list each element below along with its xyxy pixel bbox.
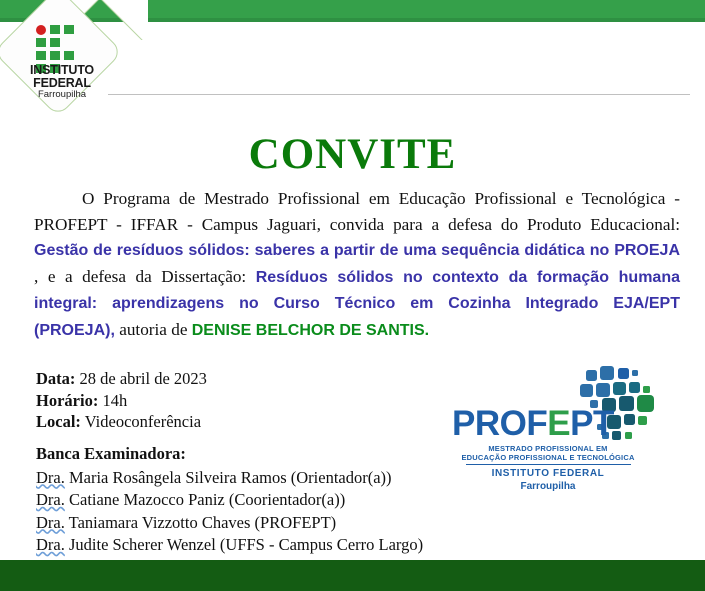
examination-board: Banca Examinadora: Dra. Maria Rosângela … bbox=[36, 443, 423, 557]
profept-footer: INSTITUTO FEDERAL Farroupilha bbox=[448, 467, 648, 493]
if-wordmark-line1: INSTITUTO bbox=[6, 64, 118, 77]
event-details: Data: 28 de abril de 2023 Horário: 14h L… bbox=[36, 368, 207, 433]
detail-value-data: 28 de abril de 2023 bbox=[80, 369, 207, 388]
detail-row-horario: Horário: 14h bbox=[36, 390, 207, 412]
page-title: CONVITE bbox=[0, 130, 705, 179]
logo-inner: INSTITUTO FEDERAL Farroupilha bbox=[6, 2, 118, 114]
if-cell bbox=[50, 38, 60, 47]
board-member-row: Dra. Catiane Mazocco Paniz (Coorientador… bbox=[36, 489, 423, 512]
board-member-name: Catiane Mazocco Paniz (Coorientador(a)) bbox=[65, 490, 345, 509]
if-cell bbox=[50, 51, 60, 60]
board-member-prefix: Dra. bbox=[36, 535, 65, 554]
if-cell bbox=[36, 38, 46, 47]
board-member-row: Dra. Maria Rosângela Silveira Ramos (Ori… bbox=[36, 467, 423, 490]
detail-row-local: Local: Videoconferência bbox=[36, 411, 207, 433]
board-member-row: Dra. Taniamara Vizzotto Chaves (PROFEPT) bbox=[36, 512, 423, 535]
if-wordmark-line2: FEDERAL bbox=[6, 77, 118, 90]
examination-board-title: Banca Examinadora: bbox=[36, 443, 423, 466]
paragraph-segment-3: autoria de bbox=[115, 320, 192, 339]
if-cell bbox=[64, 25, 74, 34]
paragraph-segment-1: O Programa de Mestrado Profissional em E… bbox=[34, 189, 680, 234]
if-pixel-grid-icon bbox=[36, 25, 78, 65]
invitation-page: INSTITUTO FEDERAL Farroupilha CONVITE O … bbox=[0, 0, 705, 591]
board-member-name: Taniamara Vizzotto Chaves (PROFEPT) bbox=[65, 513, 336, 532]
profept-divider bbox=[466, 464, 631, 465]
detail-label-local: Local: bbox=[36, 412, 81, 431]
profept-subtitle-line2: EDUCAÇÃO PROFISSIONAL E TECNOLÓGICA bbox=[448, 453, 648, 462]
if-red-dot-icon bbox=[36, 25, 46, 35]
detail-label-horario: Horário: bbox=[36, 391, 98, 410]
detail-value-horario: 14h bbox=[102, 391, 127, 410]
header-divider-rule bbox=[108, 94, 690, 95]
instituto-federal-logo: INSTITUTO FEDERAL Farroupilha bbox=[6, 2, 118, 114]
detail-row-data: Data: 28 de abril de 2023 bbox=[36, 368, 207, 390]
paragraph-segment-2: , e a defesa da Dissertação: bbox=[34, 267, 256, 286]
detail-value-local: Videoconferência bbox=[85, 412, 201, 431]
if-cell bbox=[36, 51, 46, 60]
board-member-prefix: Dra. bbox=[36, 468, 65, 487]
board-member-prefix: Dra. bbox=[36, 513, 65, 532]
if-wordmark: INSTITUTO FEDERAL Farroupilha bbox=[6, 64, 118, 100]
detail-label-data: Data: bbox=[36, 369, 75, 388]
profept-logo: PROFEPT MESTRADO PROFISSIONAL EM EDUCAÇÃ… bbox=[448, 364, 683, 489]
profept-word-part1: PROF bbox=[452, 404, 547, 443]
profept-subtitle-line1: MESTRADO PROFISSIONAL EM bbox=[448, 444, 648, 453]
if-cell bbox=[64, 51, 74, 60]
profept-footer-line2: Farroupilha bbox=[448, 480, 648, 493]
invitation-paragraph: O Programa de Mestrado Profissional em E… bbox=[34, 186, 680, 343]
board-member-name: Maria Rosângela Silveira Ramos (Orientad… bbox=[65, 468, 392, 487]
board-member-name: Judite Scherer Wenzel (UFFS - Campus Cer… bbox=[65, 535, 423, 554]
bottom-green-bar bbox=[0, 560, 705, 591]
profept-footer-line1: INSTITUTO FEDERAL bbox=[448, 467, 648, 480]
product-title: Gestão de resíduos sólidos: saberes a pa… bbox=[34, 242, 680, 259]
profept-wordmark: PROFEPT bbox=[452, 406, 614, 441]
if-cell bbox=[50, 25, 60, 34]
profept-word-part3: PT bbox=[570, 404, 614, 443]
board-member-row: Dra. Judite Scherer Wenzel (UFFS - Campu… bbox=[36, 534, 423, 557]
author-name: DENISE BELCHOR DE SANTIS. bbox=[192, 322, 429, 339]
profept-subtitle: MESTRADO PROFISSIONAL EM EDUCAÇÃO PROFIS… bbox=[448, 444, 648, 463]
if-wordmark-line3: Farroupilha bbox=[6, 90, 118, 100]
profept-word-part2: E bbox=[547, 404, 570, 443]
board-member-prefix: Dra. bbox=[36, 490, 65, 509]
